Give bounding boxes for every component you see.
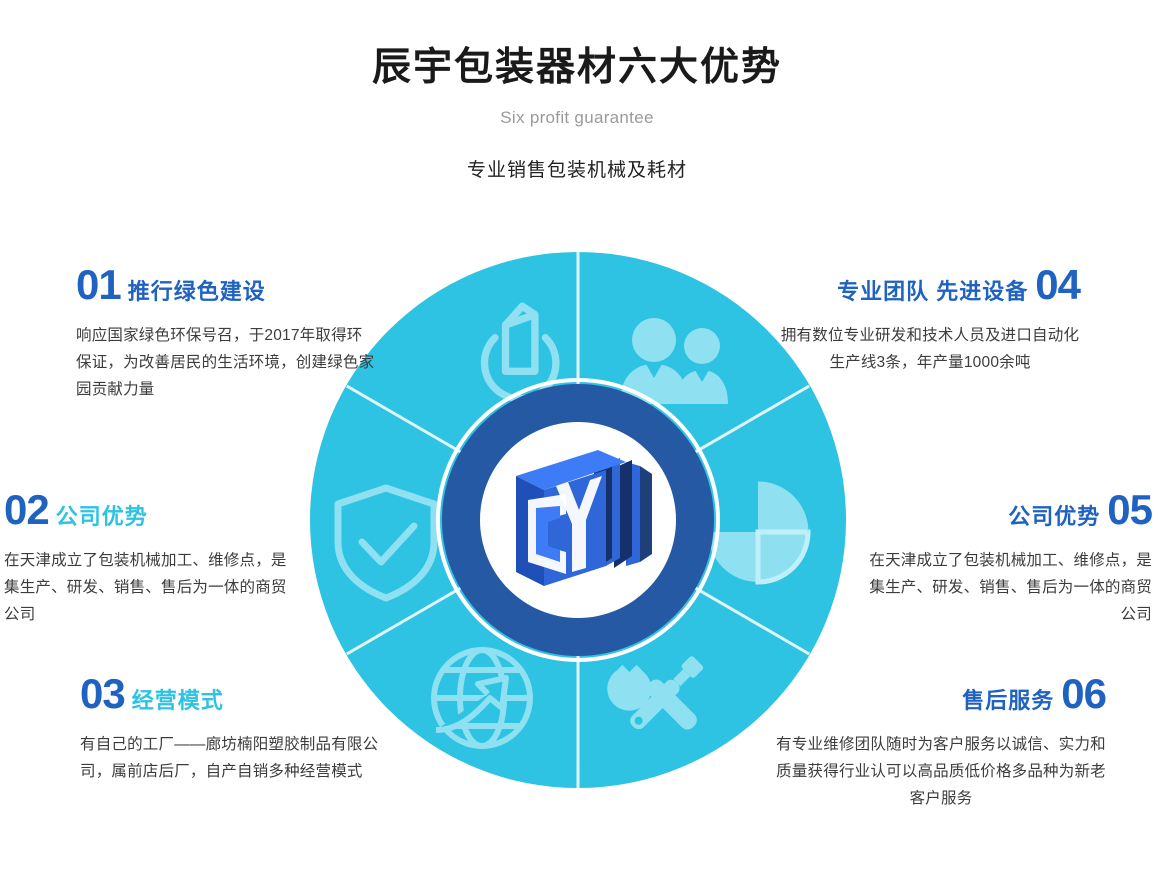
- feature-block-03: 03 经营模式 有自己的工厂——廊坊楠阳塑胶制品有限公司，属前店后厂，自产自销多…: [80, 673, 400, 785]
- feature-block-01: 01 推行绿色建设 响应国家绿色环保号召，于2017年取得环保证，为改善居民的生…: [76, 264, 376, 403]
- feature-body-02: 在天津成立了包装机械加工、维修点，是集生产、研发、销售、售后为一体的商贸公司: [4, 547, 300, 628]
- feature-body-03: 有自己的工厂——廊坊楠阳塑胶制品有限公司，属前店后厂，自产自销多种经营模式: [80, 731, 400, 785]
- feature-number-05: 05: [1107, 489, 1152, 531]
- feature-body-06: 有专业维修团队随时为客户服务以诚信、实力和质量获得行业认可以高品质低价格多品种为…: [776, 731, 1106, 812]
- feature-title-03: 经营模式: [132, 690, 224, 712]
- feature-heading-03: 03 经营模式: [80, 673, 400, 715]
- feature-body-05: 在天津成立了包装机械加工、维修点，是集生产、研发、销售、售后为一体的商贸公司: [856, 547, 1152, 628]
- feature-number-06: 06: [1061, 673, 1106, 715]
- feature-body-01: 响应国家绿色环保号召，于2017年取得环保证，为改善居民的生活环境，创建绿色家园…: [76, 322, 376, 403]
- feature-number-03: 03: [80, 673, 125, 715]
- page-title: 辰宇包装器材六大优势: [0, 36, 1154, 92]
- feature-block-02: 02 公司优势 在天津成立了包装机械加工、维修点，是集生产、研发、销售、售后为一…: [4, 489, 300, 628]
- feature-title-02: 公司优势: [56, 506, 148, 528]
- feature-heading-04: 专业团队 先进设备 04: [780, 264, 1080, 306]
- feature-heading-02: 02 公司优势: [4, 489, 300, 531]
- subtitle-english-text: Six profit guarantee: [484, 108, 669, 127]
- feature-title-01: 推行绿色建设: [128, 281, 266, 303]
- feature-title-05: 公司优势: [1008, 506, 1100, 528]
- package-box-logo-graphic: [494, 436, 662, 604]
- feature-heading-06: 售后服务 06: [776, 673, 1106, 715]
- feature-number-04: 04: [1035, 264, 1080, 306]
- feature-block-04: 专业团队 先进设备 04 拥有数位专业研发和技术人员及进口自动化生产线3条，年产…: [780, 264, 1080, 376]
- feature-title-04: 专业团队 先进设备: [837, 281, 1028, 303]
- feature-heading-01: 01 推行绿色建设: [76, 264, 376, 306]
- feature-heading-05: 公司优势 05: [856, 489, 1152, 531]
- feature-block-06: 售后服务 06 有专业维修团队随时为客户服务以诚信、实力和质量获得行业认可以高品…: [776, 673, 1106, 812]
- feature-title-06: 售后服务: [962, 690, 1054, 712]
- feature-number-02: 02: [4, 489, 49, 531]
- header: 辰宇包装器材六大优势 Six profit guarantee 专业销售包装机械…: [0, 0, 1154, 200]
- subtitle-chinese: 专业销售包装机械及耗材: [0, 155, 1154, 182]
- subtitle-english: Six profit guarantee: [0, 108, 1154, 128]
- package-box-logo: [494, 436, 662, 604]
- feature-block-05: 公司优势 05 在天津成立了包装机械加工、维修点，是集生产、研发、销售、售后为一…: [856, 489, 1152, 628]
- feature-body-04: 拥有数位专业研发和技术人员及进口自动化生产线3条，年产量1000余吨: [780, 322, 1080, 376]
- feature-number-01: 01: [76, 264, 121, 306]
